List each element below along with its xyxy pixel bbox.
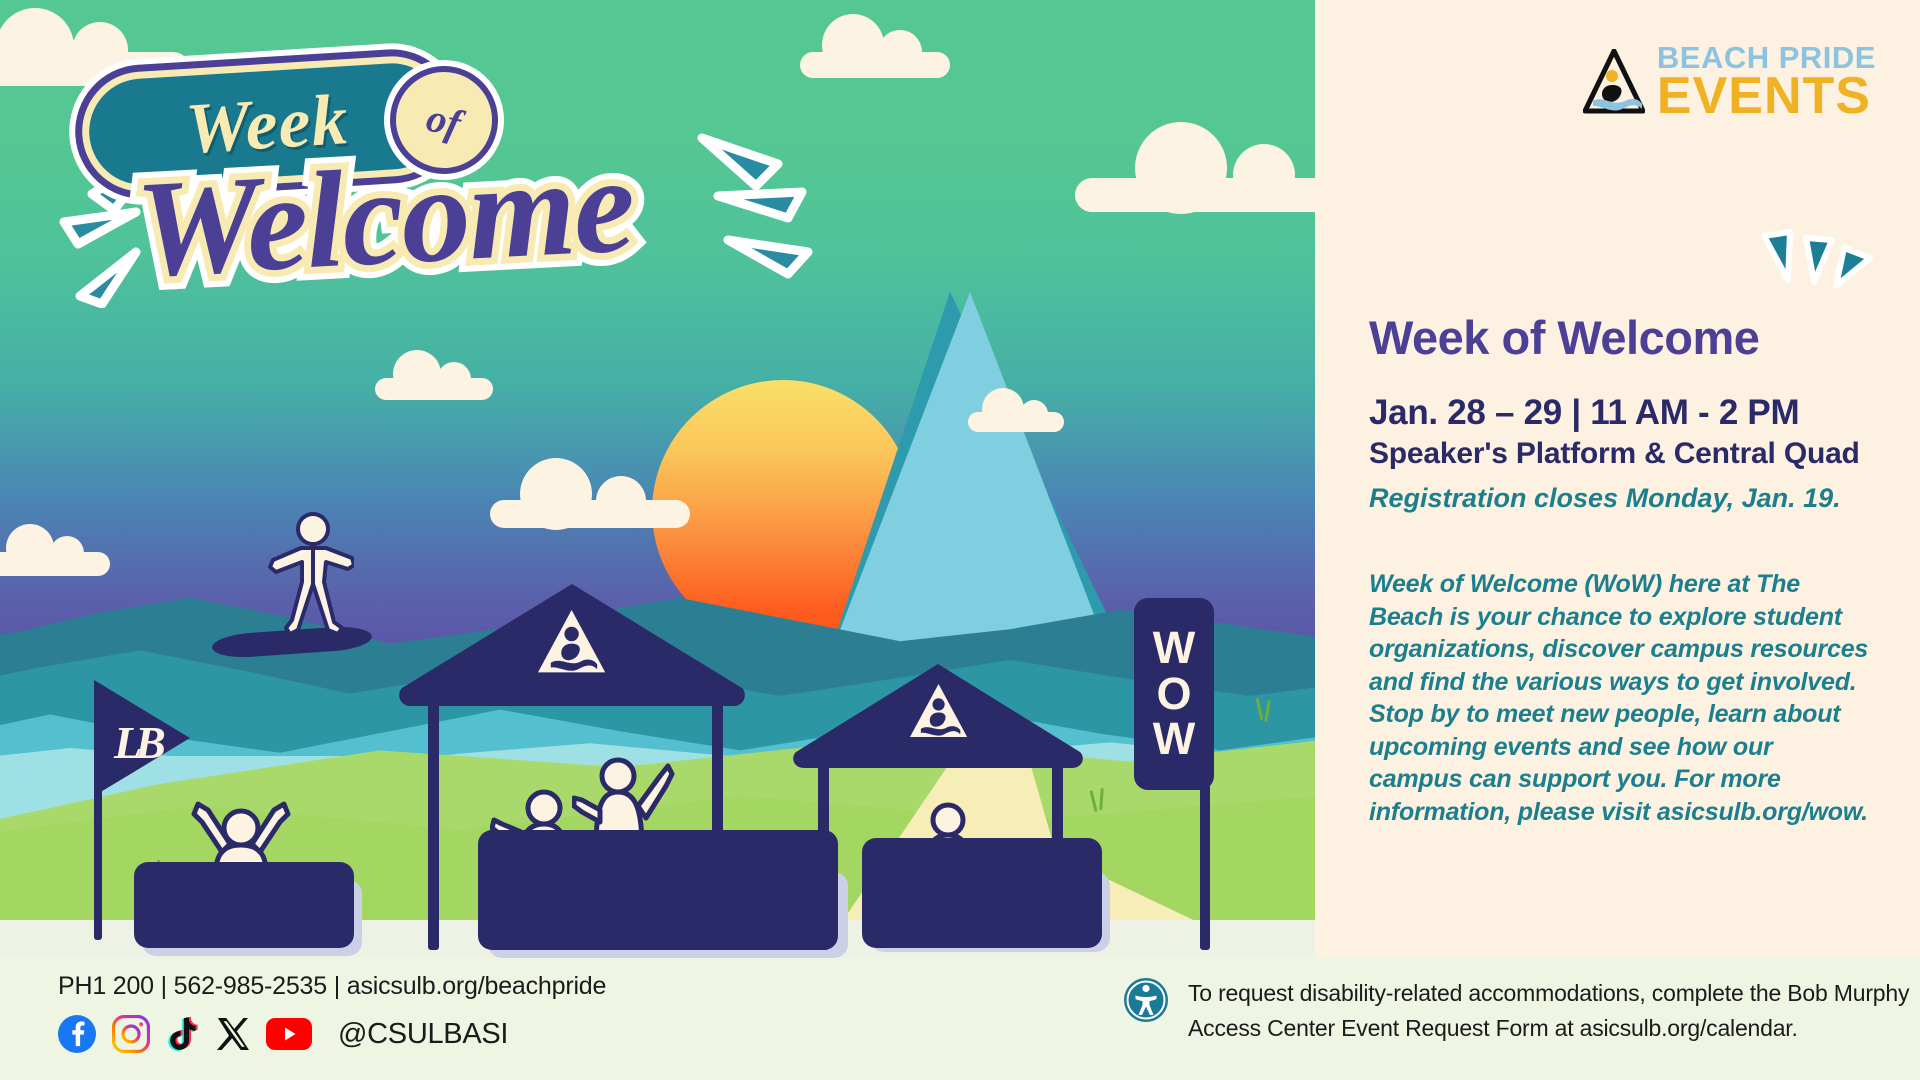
tiktok-icon[interactable] xyxy=(166,1015,200,1053)
facebook-icon[interactable] xyxy=(58,1015,96,1053)
accessibility-icon xyxy=(1122,976,1170,1024)
x-twitter-icon[interactable] xyxy=(216,1016,250,1052)
youtube-icon[interactable] xyxy=(266,1017,312,1051)
beach-pride-events-logo: BEACH PRIDE EVENTS xyxy=(1583,44,1876,120)
event-location: Speaker's Platform & Central Quad xyxy=(1369,437,1869,471)
week-of-welcome-logo: Week of Welcome Welcome xyxy=(40,28,870,318)
accessibility-line-1: To request disability-related accommodat… xyxy=(1188,976,1909,1011)
wow-sign-post xyxy=(1200,770,1210,950)
registration-deadline: Registration closes Monday, Jan. 19. xyxy=(1369,483,1869,514)
wow-sign-letter: O xyxy=(1156,673,1191,716)
accessibility-line-2: Access Center Event Request Form at asic… xyxy=(1188,1011,1909,1046)
footer-contact-block: PH1 200 | 562-985-2535 | asicsulb.org/be… xyxy=(58,972,606,1053)
footer-bar: PH1 200 | 562-985-2535 | asicsulb.org/be… xyxy=(0,958,1920,1080)
event-title: Week of Welcome xyxy=(1369,310,1869,365)
wow-sign-letter: W xyxy=(1153,718,1195,761)
event-datetime: Jan. 28 – 29 | 11 AM - 2 PM xyxy=(1369,393,1869,433)
surfer-figure-icon xyxy=(268,512,354,642)
cloud-icon xyxy=(968,412,1064,432)
instagram-icon[interactable] xyxy=(112,1015,150,1053)
cloud-icon xyxy=(0,552,110,576)
wow-sign-letter: W xyxy=(1153,627,1195,670)
social-links: @CSULBASI xyxy=(58,1015,606,1053)
tent-leg xyxy=(818,760,829,950)
asi-triangle-wave-logo-icon xyxy=(1583,49,1645,115)
contact-info: PH1 200 | 562-985-2535 | asicsulb.org/be… xyxy=(58,972,606,1001)
brand-wordmark: BEACH PRIDE EVENTS xyxy=(1657,44,1876,120)
burst-rays-right-icon xyxy=(692,124,832,294)
brand-events-label: EVENTS xyxy=(1657,73,1876,121)
info-table xyxy=(862,838,1102,948)
burst-rays-panel-icon xyxy=(1756,222,1878,288)
accessibility-notice: To request disability-related accommodat… xyxy=(1122,976,1909,1045)
cloud-icon xyxy=(1075,178,1330,212)
poster-canvas: LB xyxy=(0,0,1920,1080)
accessibility-text: To request disability-related accommodat… xyxy=(1188,976,1909,1045)
lb-monogram-label: LB xyxy=(114,716,159,769)
illustration-artwork: LB xyxy=(0,0,1330,958)
tent-roof-asi xyxy=(792,660,1084,772)
info-table xyxy=(478,830,838,950)
tent-roof-asi xyxy=(398,580,746,712)
wow-sign: W O W xyxy=(1134,598,1214,790)
event-description: Week of Welcome (WoW) here at The Beach … xyxy=(1369,568,1869,828)
info-table xyxy=(134,862,354,948)
info-panel: BEACH PRIDE EVENTS Week of Welcome Jan. … xyxy=(1315,0,1920,958)
tent-leg xyxy=(428,700,439,950)
event-details: Week of Welcome Jan. 28 – 29 | 11 AM - 2… xyxy=(1369,310,1869,828)
cloud-icon xyxy=(490,500,690,528)
social-handle: @CSULBASI xyxy=(338,1018,508,1051)
cloud-icon xyxy=(375,378,493,400)
logo-welcome-text: Welcome xyxy=(133,135,636,299)
